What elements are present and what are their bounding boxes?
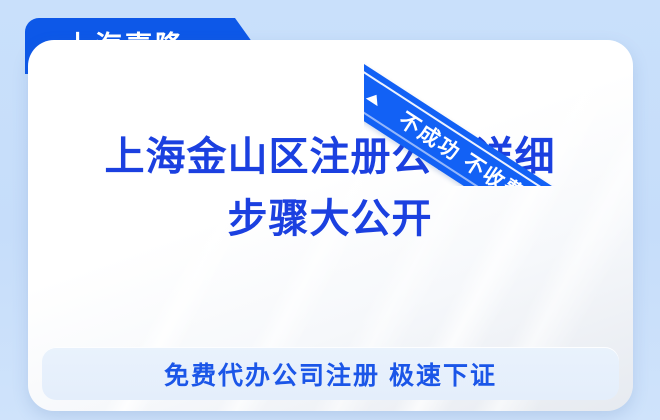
page-title: 上海金山区注册公司详细 步骤大公开 [0, 126, 660, 250]
cta-banner-label: 免费代办公司注册 极速下证 [164, 356, 497, 392]
poster-stage: 上海壹隆 上海金山区注册公司详细 步骤大公开 免费代办公司注册 极速下证 不成功… [0, 0, 660, 420]
cta-banner[interactable]: 免费代办公司注册 极速下证 [42, 347, 619, 400]
brand-tab-label-wrap: 上海壹隆 [25, 18, 275, 74]
page-title-line-2: 步骤大公开 [0, 188, 660, 250]
brand-tab-label: 上海壹隆 [65, 33, 185, 60]
page-title-line-1: 上海金山区注册公司详细 [0, 126, 660, 188]
